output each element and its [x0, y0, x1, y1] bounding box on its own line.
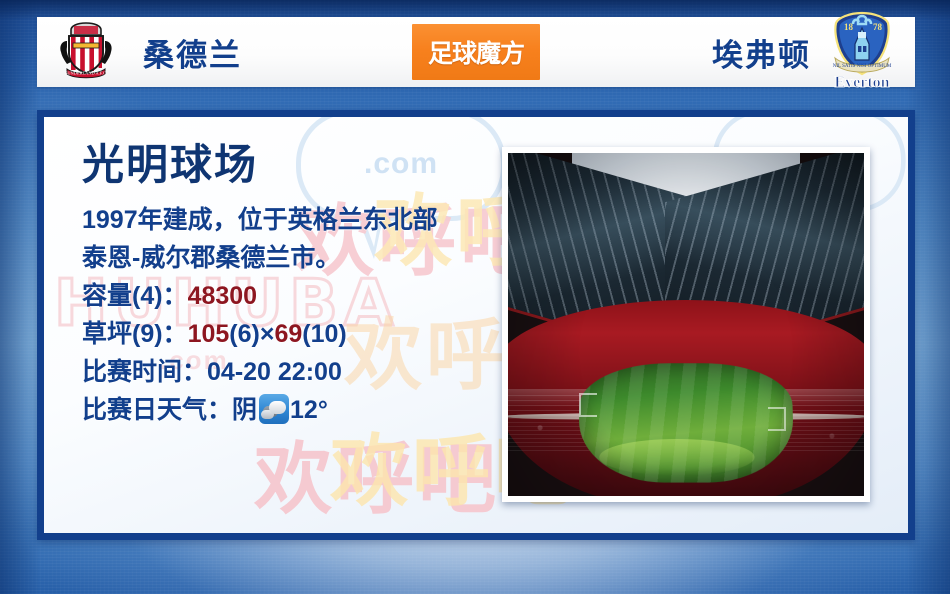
stadium-title: 光明球场: [82, 143, 502, 187]
pitch-width-rank: (10): [302, 320, 346, 348]
pitch-width-value: 69: [274, 320, 302, 348]
match-header-bar: SUNDERLAND A.F.C. 桑德兰 足球魔方 埃弗顿 18 78: [37, 17, 915, 87]
everton-wordmark: Everton: [834, 74, 889, 90]
capacity-value: 48300: [188, 282, 258, 310]
match-time-label: 比赛时间：: [82, 358, 207, 386]
pitch-length-rank: (6): [229, 320, 260, 348]
match-weather-label: 比赛日天气：: [82, 396, 232, 424]
watermark-huhuba-pink-2: 欢呼吧: [254, 417, 500, 529]
away-team-block[interactable]: 埃弗顿 18 78 NIL SATIS NISI OPTIMUM Everton: [540, 17, 915, 87]
sunderland-crest: SUNDERLAND A.F.C.: [55, 19, 117, 86]
cloudy-icon: [259, 394, 289, 424]
match-weather-value: 阴: [232, 396, 257, 424]
stadium-description-line-2: 泰恩-威尔郡桑德兰市。: [82, 239, 502, 277]
background-vignette-left: [0, 0, 40, 594]
site-logo[interactable]: 足球魔方: [412, 24, 540, 80]
capacity-label: 容量(4)：: [82, 282, 188, 310]
match-weather-row: 比赛日天气：阴 12°: [82, 391, 502, 429]
temperature-value: 12°: [290, 396, 328, 424]
stadium-photo-frame[interactable]: [502, 147, 870, 502]
pitch-label: 草坪(9)：: [82, 320, 188, 348]
site-logo-text: 足球魔方: [428, 34, 524, 70]
match-time-value: 04-20 22:00: [207, 358, 342, 386]
home-team-block[interactable]: SUNDERLAND A.F.C. 桑德兰: [37, 17, 412, 87]
everton-crest: 18 78 NIL SATIS NISI OPTIMUM Everton: [825, 10, 899, 95]
pitch-length-value: 105: [188, 320, 230, 348]
everton-year-right: 78: [873, 22, 883, 32]
stadium-description-line-1: 1997年建成，位于英格兰东北部: [82, 201, 502, 239]
stadium-photo: [508, 153, 864, 496]
sunderland-wordmark: SUNDERLAND A.F.C.: [65, 70, 107, 75]
everton-year-left: 18: [844, 22, 854, 32]
everton-motto: NIL SATIS NISI OPTIMUM: [833, 64, 892, 69]
capacity-row: 容量(4)：48300: [82, 277, 502, 315]
away-team-name: 埃弗顿: [712, 30, 811, 75]
match-time-row: 比赛时间：04-20 22:00: [82, 353, 502, 391]
home-team-name: 桑德兰: [143, 30, 242, 75]
stadium-info-card: .com .com 欢呼吧 欢呼吧 HUHUBA .com 欢呼吧 欢呼吧 欢呼…: [37, 110, 915, 540]
pitch-row: 草坪(9)：105(6)×69(10): [82, 315, 502, 353]
pitch-separator: ×: [260, 320, 275, 348]
stadium-info-text: 光明球场 1997年建成，位于英格兰东北部 泰恩-威尔郡桑德兰市。 容量(4)：…: [82, 143, 502, 429]
photo-vignette: [508, 153, 864, 496]
